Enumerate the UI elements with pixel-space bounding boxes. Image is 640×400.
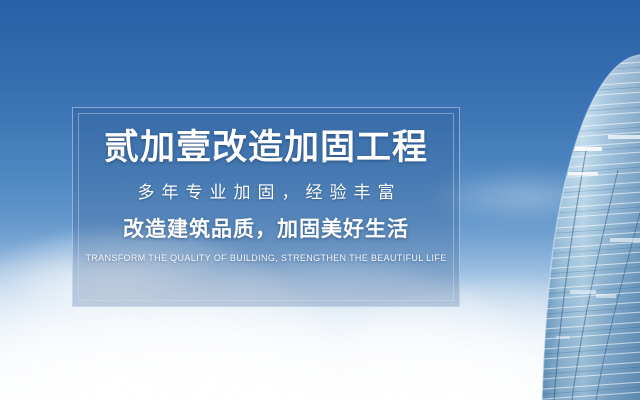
banner-subline: 多年专业加固，经验丰富 xyxy=(131,183,402,203)
skyscraper-icon xyxy=(510,0,640,400)
banner-headline: 贰加壹改造加固工程 xyxy=(104,130,428,167)
text-panel: 贰加壹改造加固工程 多年专业加固，经验丰富 改造建筑品质，加固美好生活 TRAN… xyxy=(72,107,460,307)
promo-banner: 贰加壹改造加固工程 多年专业加固，经验丰富 改造建筑品质，加固美好生活 TRAN… xyxy=(0,0,640,400)
banner-english-subtitle: TRANSFORM THE QUALITY OF BUILDING, STREN… xyxy=(85,253,446,264)
skyscraper-image xyxy=(510,0,640,400)
banner-tagline: 改造建筑品质，加固美好生活 xyxy=(123,217,409,242)
panel-content: 贰加壹改造加固工程 多年专业加固，经验丰富 改造建筑品质，加固美好生活 TRAN… xyxy=(73,108,459,306)
